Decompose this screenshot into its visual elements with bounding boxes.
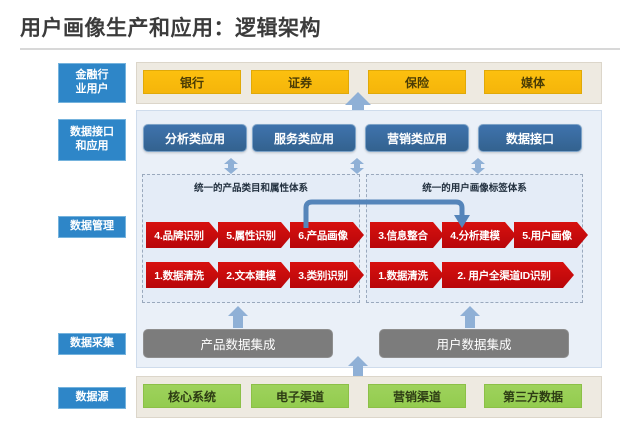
title-divider bbox=[20, 48, 620, 50]
chevron-label: 2. 用户全渠道ID识别 bbox=[457, 268, 550, 283]
sidebar-label-text: 数据接口 和应用 bbox=[70, 126, 114, 154]
chip-label: 分析类应用 bbox=[165, 130, 225, 147]
chevron-label: 4.品牌识别 bbox=[154, 228, 204, 243]
product-panel-title: 统一的产品类目和属性体系 bbox=[142, 180, 360, 194]
chip-core-system[interactable]: 核心系统 bbox=[143, 384, 241, 408]
chip-analytics-apps[interactable]: 分析类应用 bbox=[143, 124, 247, 152]
chevron-user-bottom-2[interactable]: 2. 用户全渠道ID识别 bbox=[442, 262, 574, 288]
chevron-label: 1.数据清洗 bbox=[378, 268, 428, 283]
chip-electronic-channel[interactable]: 电子渠道 bbox=[251, 384, 349, 408]
sidebar-item-finance-users[interactable]: 金融行 业用户 bbox=[58, 63, 126, 103]
chevron-user-top-3[interactable]: 5.用户画像 bbox=[514, 222, 588, 248]
chip-label: 营销类应用 bbox=[387, 130, 447, 147]
arrow-up-user-integration-to-management bbox=[460, 306, 480, 328]
chip-marketing-channel[interactable]: 营销渠道 bbox=[368, 384, 466, 408]
user-panel-title: 统一的用户画像标签体系 bbox=[366, 180, 583, 194]
chevron-label: 1.数据清洗 bbox=[154, 268, 204, 283]
chip-label: 数据接口 bbox=[506, 130, 554, 147]
chip-service-apps[interactable]: 服务类应用 bbox=[252, 124, 356, 152]
sidebar-label-text: 数据采集 bbox=[70, 337, 114, 351]
chip-label: 核心系统 bbox=[168, 388, 216, 405]
chip-media[interactable]: 媒体 bbox=[484, 70, 582, 94]
chip-label: 保险 bbox=[405, 74, 429, 91]
chevron-label: 6.产品画像 bbox=[298, 228, 348, 243]
sidebar-item-data-collection[interactable]: 数据采集 bbox=[58, 333, 126, 355]
sidebar-label-text: 数据源 bbox=[76, 391, 109, 405]
chevron-product-bottom-3[interactable]: 3.类别识别 bbox=[290, 262, 364, 288]
chip-bank[interactable]: 银行 bbox=[143, 70, 241, 94]
chevron-label: 4.分析建模 bbox=[450, 228, 500, 243]
chip-label: 银行 bbox=[180, 74, 204, 91]
sidebar-label-text: 金融行 业用户 bbox=[76, 69, 109, 97]
chip-user-data-integration[interactable]: 用户数据集成 bbox=[379, 329, 569, 358]
chevron-label: 3.类别识别 bbox=[298, 268, 348, 283]
chip-third-party-data[interactable]: 第三方数据 bbox=[484, 384, 582, 408]
sidebar-item-data-source[interactable]: 数据源 bbox=[58, 387, 126, 409]
chevron-label: 3.信息整合 bbox=[378, 228, 428, 243]
chip-label: 产品数据集成 bbox=[200, 334, 275, 353]
chevron-label: 2.文本建模 bbox=[226, 268, 276, 283]
chevron-label: 5.属性识别 bbox=[226, 228, 276, 243]
chip-product-data-integration[interactable]: 产品数据集成 bbox=[143, 329, 333, 358]
sidebar-item-data-interface-and-apps[interactable]: 数据接口 和应用 bbox=[58, 119, 126, 161]
sidebar-label-text: 数据管理 bbox=[70, 220, 114, 234]
arrow-up-product-integration-to-management bbox=[228, 306, 248, 328]
chip-marketing-apps[interactable]: 营销类应用 bbox=[365, 124, 469, 152]
chevron-product-top-1[interactable]: 4.品牌识别 bbox=[146, 222, 220, 248]
arrow-双向-apps-to-management-1 bbox=[224, 158, 238, 174]
chip-label: 用户数据集成 bbox=[436, 334, 511, 353]
chevron-label: 5.用户画像 bbox=[522, 228, 572, 243]
chevron-user-bottom-1[interactable]: 1.数据清洗 bbox=[370, 262, 444, 288]
chip-securities[interactable]: 证券 bbox=[251, 70, 349, 94]
chip-label: 营销渠道 bbox=[393, 388, 441, 405]
arrow-up-sources-to-integration bbox=[348, 356, 368, 378]
chip-data-interface[interactable]: 数据接口 bbox=[478, 124, 582, 152]
chip-label: 证券 bbox=[288, 74, 312, 91]
chevron-product-top-2[interactable]: 5.属性识别 bbox=[218, 222, 292, 248]
page-title: 用户画像生产和应用：逻辑架构 bbox=[20, 12, 321, 42]
chevron-product-bottom-2[interactable]: 2.文本建模 bbox=[218, 262, 292, 288]
chip-insurance[interactable]: 保险 bbox=[368, 70, 466, 94]
arrow-双向-apps-to-management-2 bbox=[350, 158, 364, 174]
chip-label: 电子渠道 bbox=[276, 388, 324, 405]
connector-product-to-user bbox=[300, 196, 472, 228]
sidebar-item-data-management[interactable]: 数据管理 bbox=[58, 216, 126, 238]
chip-label: 服务类应用 bbox=[274, 130, 334, 147]
arrow-双向-apps-to-management-3 bbox=[471, 158, 485, 174]
chip-label: 第三方数据 bbox=[503, 388, 563, 405]
chevron-product-bottom-1[interactable]: 1.数据清洗 bbox=[146, 262, 220, 288]
chip-label: 媒体 bbox=[521, 74, 545, 91]
